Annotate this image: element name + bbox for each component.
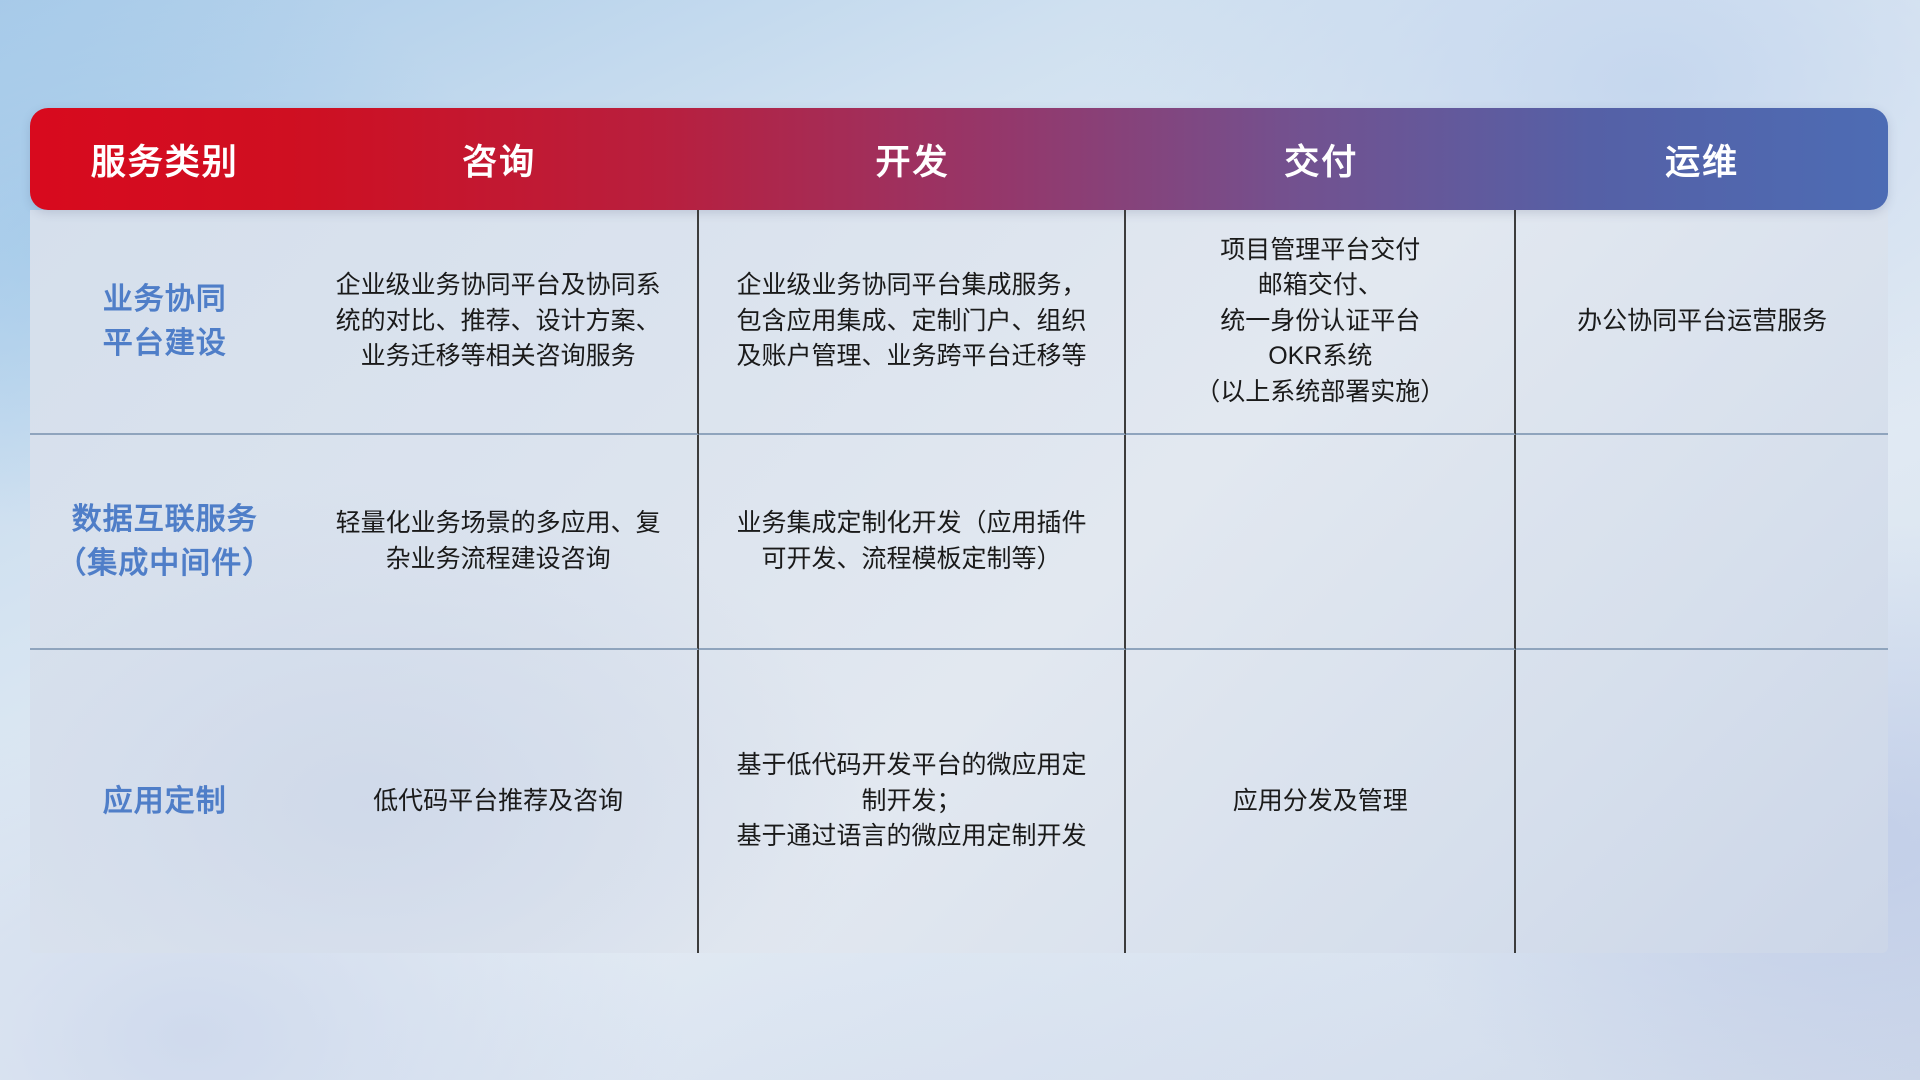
column-header-consulting: 咨询 xyxy=(299,108,698,210)
cell-operations-row2 xyxy=(1516,435,1888,650)
cell-consulting-row2: 轻量化业务场景的多应用、复 杂业务流程建设咨询 xyxy=(299,435,698,650)
table-body: 业务协同 平台建设 企业级业务协同平台及协同系 统的对比、推荐、设计方案、 业务… xyxy=(30,210,1888,953)
service-matrix-table: 服务类别 咨询 开发 交付 运维 业务协同 平台建设 企业级业务协同平台及协同系… xyxy=(30,108,1888,953)
column-header-delivery: 交付 xyxy=(1126,108,1516,210)
cell-consulting-row1: 企业级业务协同平台及协同系 统的对比、推荐、设计方案、 业务迁移等相关咨询服务 xyxy=(299,210,698,435)
cell-delivery-row2 xyxy=(1126,435,1516,650)
cell-development-row1: 企业级业务协同平台集成服务， 包含应用集成、定制门户、组织 及账户管理、业务跨平… xyxy=(699,210,1126,435)
cell-consulting-row3: 低代码平台推荐及咨询 xyxy=(299,650,698,953)
cell-development-row2: 业务集成定制化开发（应用插件 可开发、流程模板定制等） xyxy=(699,435,1126,650)
table-row: 应用定制 低代码平台推荐及咨询 基于低代码开发平台的微应用定 制开发； 基于通过… xyxy=(30,650,1888,953)
row-label-business-collaboration: 业务协同 平台建设 xyxy=(30,210,299,435)
service-matrix-card: 服务类别 咨询 开发 交付 运维 业务协同 平台建设 企业级业务协同平台及协同系… xyxy=(30,108,1888,953)
header-row: 服务类别 咨询 开发 交付 运维 xyxy=(30,108,1888,210)
row-label-app-customization: 应用定制 xyxy=(30,650,299,953)
column-header-category: 服务类别 xyxy=(30,108,299,210)
cell-development-row3: 基于低代码开发平台的微应用定 制开发； 基于通过语言的微应用定制开发 xyxy=(699,650,1126,953)
table-header: 服务类别 咨询 开发 交付 运维 xyxy=(30,108,1888,210)
table-row: 业务协同 平台建设 企业级业务协同平台及协同系 统的对比、推荐、设计方案、 业务… xyxy=(30,210,1888,435)
cell-delivery-row3: 应用分发及管理 xyxy=(1126,650,1516,953)
cell-operations-row1: 办公协同平台运营服务 xyxy=(1516,210,1888,435)
table-row: 数据互联服务 （集成中间件） 轻量化业务场景的多应用、复 杂业务流程建设咨询 业… xyxy=(30,435,1888,650)
cell-delivery-row1: 项目管理平台交付 邮箱交付、 统一身份认证平台 OKR系统 （以上系统部署实施） xyxy=(1126,210,1516,435)
cell-operations-row3 xyxy=(1516,650,1888,953)
row-label-data-integration: 数据互联服务 （集成中间件） xyxy=(30,435,299,650)
column-header-operations: 运维 xyxy=(1516,108,1888,210)
column-header-development: 开发 xyxy=(699,108,1126,210)
